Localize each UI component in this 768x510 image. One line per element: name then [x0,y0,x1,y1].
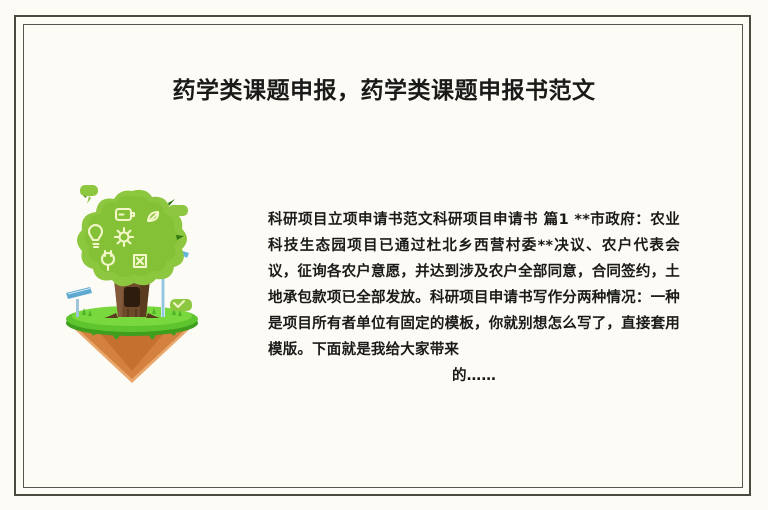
article-ellipsis: 的…… [268,363,680,389]
article-paragraph: 科研项目立项申请书范文科研项目申请书 篇1 **市政府：农业科技生态园项目已通过… [268,212,680,358]
eco-island-illustration [52,183,212,383]
page-title: 药学类课题申报，药学类课题申报书范文 [60,78,708,106]
document-page: 药学类课题申报，药学类课题申报书范文 [0,0,768,510]
article-body: 科研项目立项申请书范文科研项目申请书 篇1 **市政府：农业科技生态园项目已通过… [268,207,680,389]
tree-canopy [77,190,187,287]
